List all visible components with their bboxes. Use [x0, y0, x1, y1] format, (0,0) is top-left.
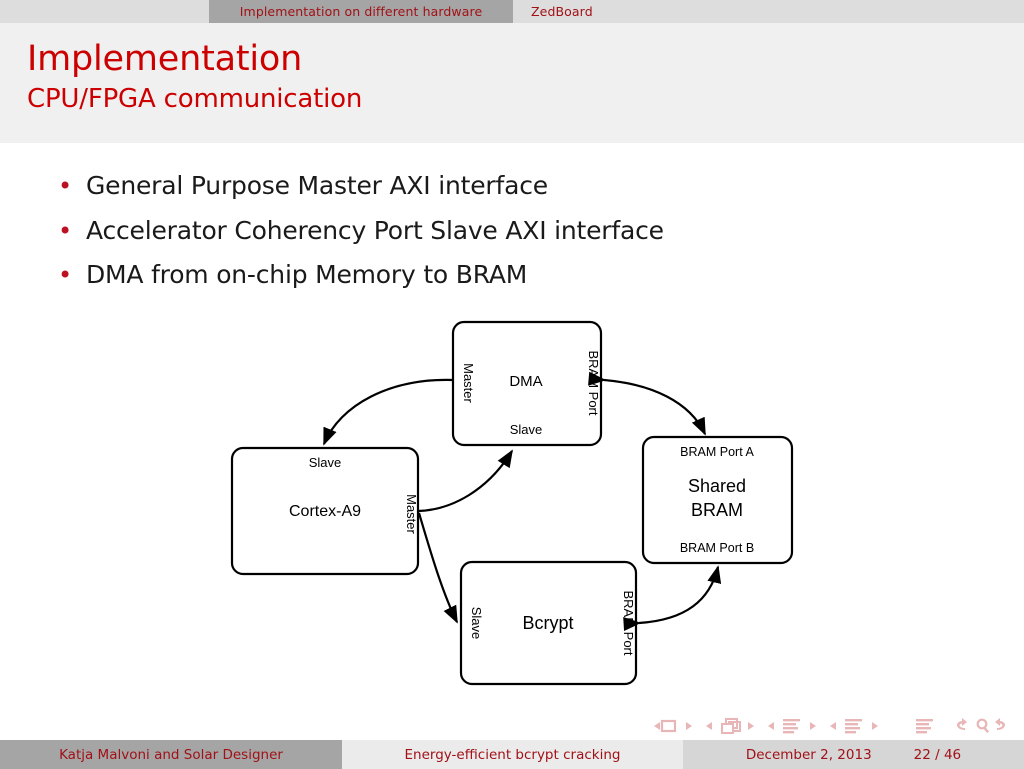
triangle-left-icon[interactable] [830, 722, 836, 730]
bullet-list: • General Purpose Master AXI interface •… [58, 172, 938, 306]
block-shared-bram-port-bottom: BRAM Port B [680, 541, 754, 555]
page-subtitle: CPU/FPGA communication [27, 84, 1024, 115]
list-item-label: Accelerator Coherency Port Slave AXI int… [86, 217, 664, 245]
header-section-implementation[interactable]: Implementation on different hardware [209, 0, 513, 23]
slide-square-icon[interactable] [662, 721, 675, 731]
connection-cortex-master-to-bcrypt-slave [419, 513, 457, 622]
block-shared-bram-label-line2: BRAM [691, 500, 743, 520]
block-dma-port-left: Master [461, 363, 476, 403]
bullet-dot-icon: • [58, 263, 86, 287]
forward-arrow-icon[interactable] [995, 718, 1005, 730]
footer-authors: Katja Malvoni and Solar Designer [0, 740, 342, 769]
block-dma-port-right: BRAM Port [586, 350, 601, 415]
back-arrow-icon[interactable] [957, 718, 967, 730]
triangle-right-icon[interactable] [810, 722, 816, 730]
list-item-label: General Purpose Master AXI interface [86, 172, 548, 200]
triangle-right-icon[interactable] [872, 722, 878, 730]
section-lines-icon[interactable] [845, 719, 862, 733]
triangle-left-icon[interactable] [654, 722, 660, 730]
document-lines-icon[interactable] [916, 719, 933, 733]
list-item-label: DMA from on-chip Memory to BRAM [86, 261, 527, 289]
list-item: • DMA from on-chip Memory to BRAM [58, 261, 938, 289]
connection-dma-master-to-cortex-slave [324, 380, 453, 444]
connection-cortex-master-to-dma-slave [418, 451, 512, 511]
block-shared-bram-label-line1: Shared [688, 476, 746, 496]
architecture-diagram: DMA Master BRAM Port Slave Cortex-A9 Sla… [200, 310, 840, 710]
block-bcrypt-label: Bcrypt [522, 613, 573, 633]
footer-date: December 2, 2013 [746, 747, 872, 763]
block-shared-bram-port-top: BRAM Port A [680, 445, 754, 459]
title-block: Implementation CPU/FPGA communication [0, 23, 1024, 143]
frames-stack-icon[interactable] [722, 719, 740, 733]
block-bcrypt: Bcrypt Slave BRAM Port [461, 562, 636, 684]
footer-info: December 2, 2013 22 / 46 [683, 740, 1024, 769]
footer-bar: Katja Malvoni and Solar Designer Energy-… [0, 740, 1024, 769]
connection-bcrypt-bram-to-shared-bram-port-b [639, 567, 718, 623]
header-subsection-zedboard[interactable]: ZedBoard [513, 0, 611, 23]
footer-page-number: 22 / 46 [914, 747, 962, 763]
diagram-svg: DMA Master BRAM Port Slave Cortex-A9 Sla… [200, 310, 840, 710]
list-item: • General Purpose Master AXI interface [58, 172, 938, 200]
block-shared-bram: Shared BRAM BRAM Port A BRAM Port B [643, 437, 792, 563]
triangle-right-icon[interactable] [748, 722, 754, 730]
list-item: • Accelerator Coherency Port Slave AXI i… [58, 217, 938, 245]
subsection-lines-icon[interactable] [783, 719, 800, 733]
triangle-left-icon[interactable] [768, 722, 774, 730]
block-bcrypt-port-left: Slave [469, 607, 484, 640]
page-title: Implementation [27, 39, 1024, 79]
block-cortex-a9-port-top: Slave [309, 455, 342, 470]
triangle-right-icon[interactable] [686, 722, 692, 730]
block-dma-label: DMA [509, 373, 542, 390]
block-dma-port-bottom: Slave [510, 422, 543, 437]
block-dma: DMA Master BRAM Port Slave [453, 322, 601, 445]
block-cortex-a9-label: Cortex-A9 [289, 503, 361, 520]
footer-talk-title: Energy-efficient bcrypt cracking [342, 740, 683, 769]
search-icon[interactable] [978, 720, 989, 733]
bullet-dot-icon: • [58, 219, 86, 243]
beamer-navigation-symbols[interactable] [640, 713, 1020, 739]
connection-dma-bram-to-shared-bram-port-a [604, 380, 705, 434]
bullet-dot-icon: • [58, 174, 86, 198]
triangle-left-icon[interactable] [706, 722, 712, 730]
block-cortex-a9-port-right: Master [404, 494, 419, 534]
header-navigation-bar: Implementation on different hardware Zed… [0, 0, 1024, 23]
block-cortex-a9: Cortex-A9 Slave Master [232, 448, 419, 574]
block-bcrypt-port-right: BRAM Port [621, 590, 636, 655]
